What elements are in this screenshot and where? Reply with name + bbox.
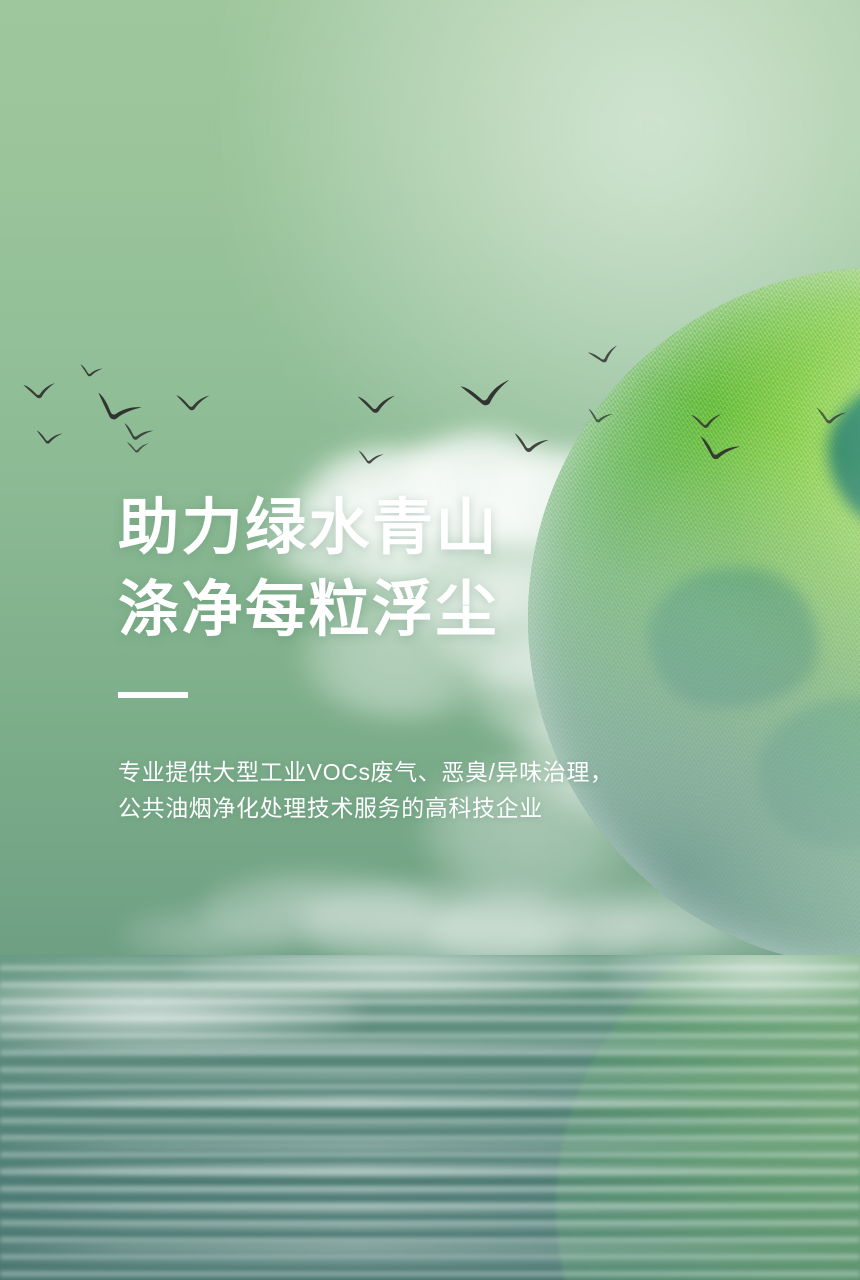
bird-icon-5 — [35, 428, 64, 449]
eco-hero-poster: 助力绿水青山 涤净每粒浮尘 专业提供大型工业VOCs废气、恶臭/异味治理， 公共… — [0, 0, 860, 1280]
bird-icon-3 — [89, 388, 146, 435]
headline-line-1: 助力绿水青山 — [118, 486, 678, 568]
water-streak-8 — [0, 1163, 860, 1177]
water-streak-13 — [0, 1259, 860, 1267]
bird-icon-8 — [356, 389, 399, 423]
water-streak-11 — [0, 1223, 860, 1232]
headline-divider — [118, 692, 188, 698]
water-streak-10 — [0, 1203, 860, 1214]
water-dark-streak-2 — [0, 1055, 860, 1067]
water-surface — [0, 955, 860, 1280]
bird-icon-11 — [586, 340, 624, 373]
subtitle-line-2: 公共油烟净化处理技术服务的高科技企业 — [118, 790, 678, 826]
water-streak-6 — [0, 1123, 860, 1129]
subtitle-line-1: 专业提供大型工业VOCs废气、恶臭/异味治理， — [118, 754, 678, 790]
water-streak-5 — [0, 1095, 860, 1108]
bird-icon-1 — [22, 377, 59, 406]
bird-icon-13 — [511, 430, 551, 461]
water-dark-streak-3 — [0, 1110, 860, 1124]
water-streak-7 — [0, 1141, 860, 1151]
bird-icon-6 — [120, 420, 156, 449]
water-streak-4 — [0, 1073, 860, 1080]
bird-icon-4 — [175, 390, 212, 419]
cloud-11 — [200, 870, 430, 948]
bird-icon-9 — [357, 448, 386, 470]
hero-content: 助力绿水青山 涤净每粒浮尘 专业提供大型工业VOCs废气、恶臭/异味治理， 公共… — [118, 486, 678, 826]
bird-icon-2 — [78, 362, 104, 382]
bird-icon-14 — [690, 409, 725, 436]
continent-shape-4 — [758, 698, 860, 848]
subtitle-block: 专业提供大型工业VOCs废气、恶臭/异味治理， 公共油烟净化处理技术服务的高科技… — [118, 754, 678, 826]
bird-icon-15 — [814, 405, 848, 431]
bird-icon-16 — [694, 432, 743, 472]
water-streak-12 — [0, 1241, 860, 1254]
cloud-14 — [560, 880, 740, 952]
water-streak-9 — [0, 1187, 860, 1194]
bird-icon-12 — [585, 406, 615, 430]
continent-shape-1 — [828, 368, 860, 538]
bird-icon-7 — [126, 439, 150, 457]
headline-line-2: 涤净每粒浮尘 — [118, 568, 678, 650]
bird-icon-10 — [458, 371, 518, 420]
